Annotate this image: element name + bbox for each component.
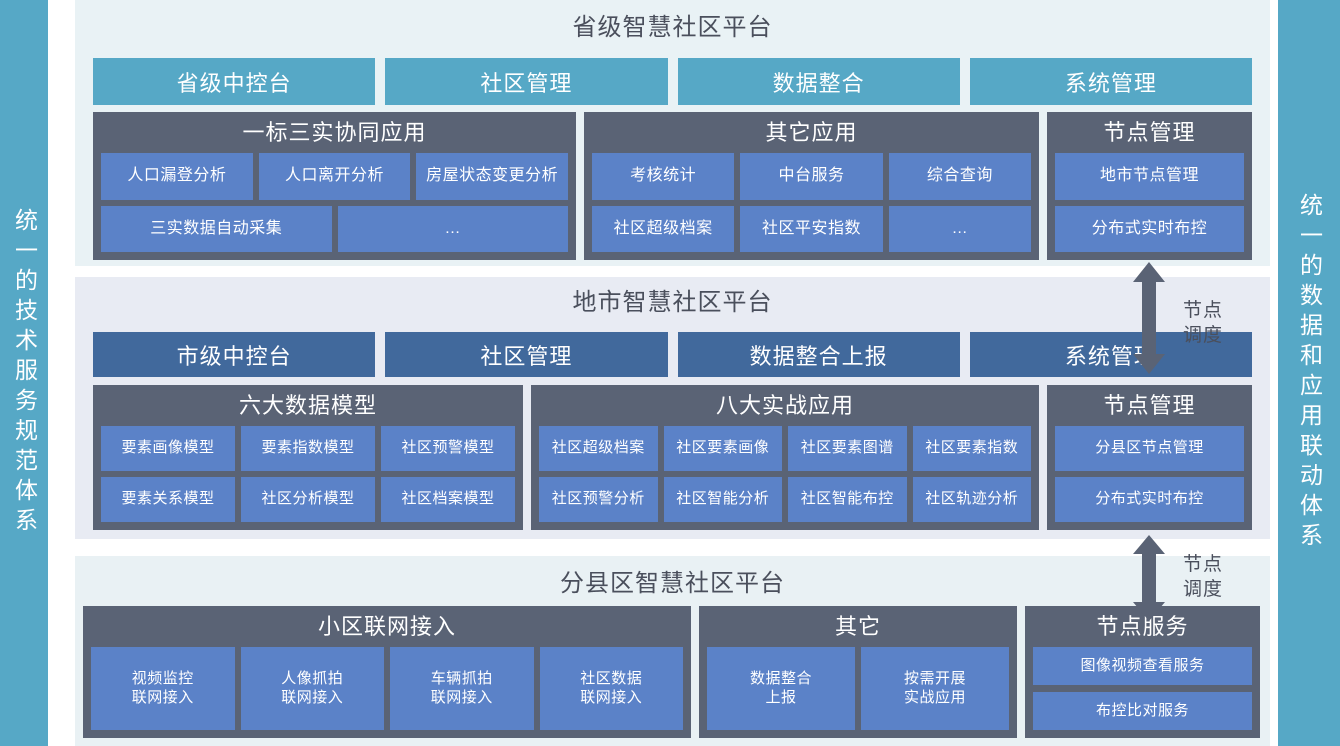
tile-distributed-realtime-control[interactable]: 分布式实时布控: [1055, 477, 1244, 522]
panel-district-node-service: 节点服务 图像视频查看服务 布控比对服务: [1025, 606, 1260, 738]
panel-title-node-mgmt: 节点管理: [1055, 118, 1244, 148]
tile-row: 要素关系模型 社区分析模型 社区档案模型: [101, 477, 515, 522]
nav-province-system-mgmt[interactable]: 系统管理: [970, 58, 1252, 105]
panel-body-other-apps: 考核统计 中台服务 综合查询 社区超级档案 社区平安指数 …: [592, 153, 1031, 252]
tile-element-relation-model[interactable]: 要素关系模型: [101, 477, 235, 522]
tile-assessment-stats[interactable]: 考核统计: [592, 153, 734, 200]
panel-title-eight-apps: 八大实战应用: [539, 391, 1031, 421]
panel-title-other-apps: 其它应用: [592, 118, 1031, 148]
panel-province-node-mgmt: 节点管理 地市节点管理 分布式实时布控: [1047, 112, 1252, 260]
right-sidebar: 统一的数据和应用联动体系: [1278, 0, 1340, 746]
tile-community-alert-model[interactable]: 社区预警模型: [381, 426, 515, 471]
tile-control-comparison-service[interactable]: 布控比对服务: [1033, 692, 1252, 730]
panel-city-six-data-models: 六大数据模型 要素画像模型 要素指数模型 社区预警模型 要素关系模型 社区分析模…: [93, 385, 523, 530]
panel-province-other-apps: 其它应用 考核统计 中台服务 综合查询 社区超级档案 社区平安指数 …: [584, 112, 1039, 260]
tile-population-departure[interactable]: 人口离开分析: [259, 153, 411, 200]
section-title-province: 省级智慧社区平台: [75, 16, 1270, 40]
panel-city-node-mgmt: 节点管理 分县区节点管理 分布式实时布控: [1047, 385, 1252, 530]
node-scheduling-arrow-bottom: [1129, 535, 1169, 621]
tile-on-demand-practical-app[interactable]: 按需开展 实战应用: [861, 647, 1009, 730]
tile-row: 分布式实时布控: [1055, 206, 1244, 253]
panel-row-district: 小区联网接入 视频监控 联网接入 人像抓拍 联网接入 车辆抓拍 联网接入 社区数…: [83, 606, 1262, 738]
tile-comprehensive-query[interactable]: 综合查询: [889, 153, 1031, 200]
tile-house-status-change[interactable]: 房屋状态变更分析: [416, 153, 568, 200]
tile-community-track-analysis[interactable]: 社区轨迹分析: [913, 477, 1032, 522]
tile-community-smart-control[interactable]: 社区智能布控: [788, 477, 907, 522]
tile-city-node-mgmt[interactable]: 地市节点管理: [1055, 153, 1244, 200]
tile-community-super-archive[interactable]: 社区超级档案: [592, 206, 734, 253]
nav-province-community-mgmt[interactable]: 社区管理: [385, 58, 667, 105]
section-province: 省级智慧社区平台 省级中控台 社区管理 数据整合 系统管理 一标三实协同应用 人…: [75, 0, 1270, 266]
architecture-diagram: 统一的技术服务规范体系 统一的数据和应用联动体系 省级智慧社区平台 省级中控台 …: [0, 0, 1340, 746]
panel-title-six-data-models: 六大数据模型: [101, 391, 515, 421]
tile-face-capture-access[interactable]: 人像抓拍 联网接入: [241, 647, 385, 730]
tile-element-portrait-model[interactable]: 要素画像模型: [101, 426, 235, 471]
section-title-city: 地市智慧社区平台: [75, 291, 1270, 315]
tile-row: 考核统计 中台服务 综合查询: [592, 153, 1031, 200]
panel-body-city-node-mgmt: 分县区节点管理 分布式实时布控: [1055, 426, 1244, 522]
nav-row-province: 省级中控台 社区管理 数据整合 系统管理: [93, 58, 1252, 105]
nav-city-console[interactable]: 市级中控台: [93, 332, 375, 377]
tile-more-ellipsis[interactable]: …: [889, 206, 1031, 253]
tile-community-analysis-model[interactable]: 社区分析模型: [241, 477, 375, 522]
tile-row: 社区预警分析 社区智能分析 社区智能布控 社区轨迹分析: [539, 477, 1031, 522]
panel-title-city-node-mgmt: 节点管理: [1055, 391, 1244, 421]
section-title-district: 分县区智慧社区平台: [75, 572, 1270, 596]
tile-row: 社区超级档案 社区平安指数 …: [592, 206, 1031, 253]
tile-row: 人口漏登分析 人口离开分析 房屋状态变更分析: [101, 153, 568, 200]
tile-population-missing-reg[interactable]: 人口漏登分析: [101, 153, 253, 200]
nav-city-community-mgmt[interactable]: 社区管理: [385, 332, 667, 377]
tile-district-node-mgmt[interactable]: 分县区节点管理: [1055, 426, 1244, 471]
panel-row-city: 六大数据模型 要素画像模型 要素指数模型 社区预警模型 要素关系模型 社区分析模…: [93, 385, 1252, 530]
tile-vehicle-capture-access[interactable]: 车辆抓拍 联网接入: [390, 647, 534, 730]
panel-body-district-other: 数据整合 上报 按需开展 实战应用: [707, 647, 1009, 730]
tile-video-surveillance-access[interactable]: 视频监控 联网接入: [91, 647, 235, 730]
panel-body-community-network-access: 视频监控 联网接入 人像抓拍 联网接入 车辆抓拍 联网接入 社区数据 联网接入: [91, 647, 683, 730]
tile-more-ellipsis[interactable]: …: [338, 206, 569, 253]
panel-title-community-network-access: 小区联网接入: [91, 612, 683, 642]
panel-body-six-data-models: 要素画像模型 要素指数模型 社区预警模型 要素关系模型 社区分析模型 社区档案模…: [101, 426, 515, 522]
tile-auto-collect-sanshi[interactable]: 三实数据自动采集: [101, 206, 332, 253]
arrow-label-line2: 调度: [1168, 323, 1238, 348]
panel-body-node-service: 图像视频查看服务 布控比对服务: [1033, 647, 1252, 730]
tile-row: 图像视频查看服务: [1033, 647, 1252, 685]
tile-community-alert-analysis[interactable]: 社区预警分析: [539, 477, 658, 522]
tile-community-archive-model[interactable]: 社区档案模型: [381, 477, 515, 522]
tile-element-index-model[interactable]: 要素指数模型: [241, 426, 375, 471]
panel-body-yibiaosanshi: 人口漏登分析 人口离开分析 房屋状态变更分析 三实数据自动采集 …: [101, 153, 568, 252]
node-scheduling-label-top: 节点 调度: [1168, 298, 1238, 348]
tile-image-video-view-service[interactable]: 图像视频查看服务: [1033, 647, 1252, 685]
panel-title-district-other: 其它: [707, 612, 1009, 642]
tile-row: 要素画像模型 要素指数模型 社区预警模型: [101, 426, 515, 471]
tile-community-safety-index[interactable]: 社区平安指数: [740, 206, 882, 253]
tile-community-element-portrait[interactable]: 社区要素画像: [664, 426, 783, 471]
tile-row: 布控比对服务: [1033, 692, 1252, 730]
panel-province-yibiaosanshi: 一标三实协同应用 人口漏登分析 人口离开分析 房屋状态变更分析 三实数据自动采集…: [93, 112, 576, 260]
arrow-label-line1: 节点: [1168, 552, 1238, 577]
tile-row: 社区超级档案 社区要素画像 社区要素图谱 社区要素指数: [539, 426, 1031, 471]
panel-district-community-network-access: 小区联网接入 视频监控 联网接入 人像抓拍 联网接入 车辆抓拍 联网接入 社区数…: [83, 606, 691, 738]
tile-row: 三实数据自动采集 …: [101, 206, 568, 253]
tile-community-super-archive[interactable]: 社区超级档案: [539, 426, 658, 471]
panel-city-eight-apps: 八大实战应用 社区超级档案 社区要素画像 社区要素图谱 社区要素指数 社区预警分…: [531, 385, 1039, 530]
arrow-label-line2: 调度: [1168, 577, 1238, 602]
panel-body-eight-apps: 社区超级档案 社区要素画像 社区要素图谱 社区要素指数 社区预警分析 社区智能分…: [539, 426, 1031, 522]
nav-row-city: 市级中控台 社区管理 数据整合上报 系统管理: [93, 332, 1252, 377]
left-sidebar: 统一的技术服务规范体系: [0, 0, 48, 746]
right-sidebar-label: 统一的数据和应用联动体系: [1298, 193, 1321, 553]
tile-community-element-graph[interactable]: 社区要素图谱: [788, 426, 907, 471]
tile-distributed-realtime-control[interactable]: 分布式实时布控: [1055, 206, 1244, 253]
tile-row: 分布式实时布控: [1055, 477, 1244, 522]
node-scheduling-arrow-top: [1129, 262, 1169, 374]
panel-body-node-mgmt: 地市节点管理 分布式实时布控: [1055, 153, 1244, 252]
section-district: 分县区智慧社区平台 小区联网接入 视频监控 联网接入 人像抓拍 联网接入 车辆抓…: [75, 556, 1270, 746]
tile-row: 视频监控 联网接入 人像抓拍 联网接入 车辆抓拍 联网接入 社区数据 联网接入: [91, 647, 683, 730]
node-scheduling-label-bottom: 节点 调度: [1168, 552, 1238, 602]
tile-data-integration-report[interactable]: 数据整合 上报: [707, 647, 855, 730]
panel-row-province: 一标三实协同应用 人口漏登分析 人口离开分析 房屋状态变更分析 三实数据自动采集…: [93, 112, 1252, 260]
tile-row: 分县区节点管理: [1055, 426, 1244, 471]
panel-title-yibiaosanshi: 一标三实协同应用: [101, 118, 568, 148]
panel-district-other: 其它 数据整合 上报 按需开展 实战应用: [699, 606, 1017, 738]
arrow-label-line1: 节点: [1168, 298, 1238, 323]
left-sidebar-label: 统一的技术服务规范体系: [13, 208, 36, 538]
nav-city-data-integration-report[interactable]: 数据整合上报: [678, 332, 960, 377]
tile-community-data-access[interactable]: 社区数据 联网接入: [540, 647, 684, 730]
tile-row: 地市节点管理: [1055, 153, 1244, 200]
nav-province-data-integration[interactable]: 数据整合: [678, 58, 960, 105]
tile-row: 数据整合 上报 按需开展 实战应用: [707, 647, 1009, 730]
section-city: 地市智慧社区平台 市级中控台 社区管理 数据整合上报 系统管理 六大数据模型 要…: [75, 277, 1270, 539]
tile-community-smart-analysis[interactable]: 社区智能分析: [664, 477, 783, 522]
tile-community-element-index[interactable]: 社区要素指数: [913, 426, 1032, 471]
nav-province-console[interactable]: 省级中控台: [93, 58, 375, 105]
tile-midplatform-service[interactable]: 中台服务: [740, 153, 882, 200]
